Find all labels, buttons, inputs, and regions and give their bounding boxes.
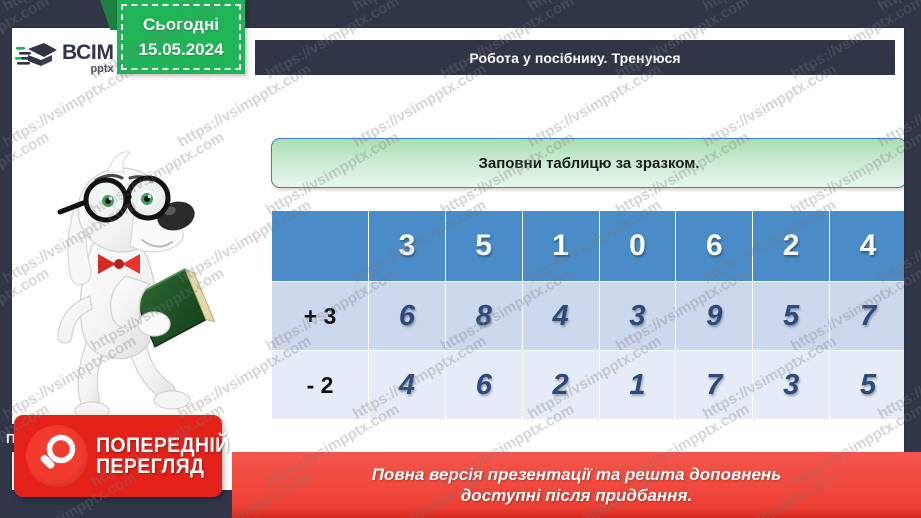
calculation-table: 3 5 1 0 6 2 4 + 3 6 8 4 3 9 5 7: [271, 210, 904, 414]
purchase-notice-line2: доступні після придбання.: [461, 485, 692, 506]
table-header-cell-6: 2: [753, 211, 829, 281]
answer-cell[interactable]: 4: [369, 351, 445, 419]
slide-viewer: ВСІМ pptx: [0, 0, 921, 518]
magnifier-icon: [26, 425, 88, 487]
today-date-tab: Сьогодні 15.05.2024: [117, 0, 245, 74]
row-label-subtract: - 2: [272, 351, 368, 419]
answer-cell[interactable]: 7: [676, 351, 752, 419]
answer-cell[interactable]: 5: [830, 351, 904, 419]
answer-cell[interactable]: 8: [446, 282, 522, 350]
today-label: Сьогодні: [143, 15, 219, 35]
table-header-cell-5: 6: [676, 211, 752, 281]
table-header-cell-0: [272, 211, 368, 281]
watermark-text: https://vsimpptx.com: [525, 0, 664, 15]
answer-cell[interactable]: 9: [676, 282, 752, 350]
brand-logo[interactable]: ВСІМ pptx: [14, 36, 132, 80]
table-header-cell-2: 5: [446, 211, 522, 281]
slide-title-bar: Робота у посібнику. Тренуюся: [255, 40, 895, 75]
table-header-cell-3: 1: [523, 211, 599, 281]
preview-badge-line1: ПОПЕРЕДНІЙ: [96, 435, 230, 456]
logo-wordmark: ВСІМ: [62, 42, 114, 63]
preview-badge-line2: ПЕРЕГЛЯД: [96, 456, 230, 477]
watermark-text: https://vsimpptx.com: [700, 0, 839, 15]
instruction-banner: Заповни таблицю за зразком.: [271, 138, 904, 188]
answer-cell[interactable]: 5: [753, 282, 829, 350]
answer-cell[interactable]: 3: [753, 351, 829, 419]
table-row: - 2 4 6 2 1 7 3 5: [272, 351, 904, 419]
table-header-cell-4: 0: [600, 211, 676, 281]
purchase-notice-banner: Повна версія презентації та решта доповн…: [232, 452, 921, 518]
dog-with-book-icon: [30, 128, 240, 438]
answer-cell[interactable]: 4: [523, 282, 599, 350]
table-header-row: 3 5 1 0 6 2 4: [272, 211, 904, 281]
preview-badge[interactable]: ПОПЕРЕДНІЙ ПЕРЕГЛЯД: [14, 415, 222, 497]
purchase-notice-line1: Повна версія презентації та решта доповн…: [372, 464, 782, 485]
graduation-cap-icon: [14, 41, 58, 75]
answer-cell[interactable]: 6: [369, 282, 445, 350]
answer-cell[interactable]: 6: [446, 351, 522, 419]
answer-cell[interactable]: 3: [600, 282, 676, 350]
table-row: + 3 6 8 4 3 9 5 7: [272, 282, 904, 350]
answer-cell[interactable]: 1: [600, 351, 676, 419]
answer-cell[interactable]: 7: [830, 282, 904, 350]
table-header-cell-7: 4: [830, 211, 904, 281]
page-title: Робота у посібнику. Тренуюся: [469, 50, 680, 66]
instruction-text: Заповни таблицю за зразком.: [478, 155, 699, 172]
row-label-add: + 3: [272, 282, 368, 350]
watermark-text: https://vsimpptx.com: [350, 0, 489, 15]
answer-cell[interactable]: 2: [523, 351, 599, 419]
logo-subtext: pptx: [62, 64, 114, 75]
table-header-cell-1: 3: [369, 211, 445, 281]
today-date: 15.05.2024: [138, 40, 223, 60]
watermark-text: https://vsimpptx.com: [875, 0, 921, 15]
